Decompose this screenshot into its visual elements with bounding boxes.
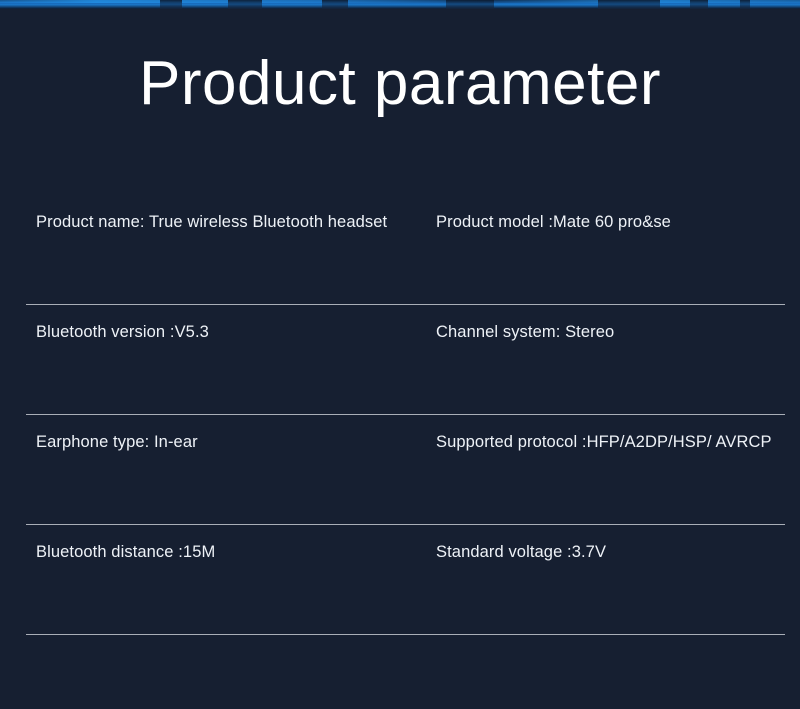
spec-row: Product name: True wireless Bluetooth he… — [0, 195, 800, 305]
spec-row: Bluetooth version :V5.3 Channel system: … — [0, 305, 800, 415]
page-title: Product parameter — [0, 50, 800, 118]
top-accent-glow — [0, 0, 800, 3]
top-accent-strip — [0, 0, 800, 9]
spec-cell-right: Supported protocol :HFP/A2DP/HSP/ AVRCP — [436, 431, 772, 453]
spec-cell-left: Bluetooth distance :15M — [36, 541, 215, 563]
top-accent-segment — [322, 0, 348, 9]
spec-cell-left: Bluetooth version :V5.3 — [36, 321, 209, 343]
top-accent-segment — [598, 0, 660, 9]
spec-row: Earphone type: In-ear Supported protocol… — [0, 415, 800, 525]
top-accent-segment — [228, 0, 262, 9]
product-parameter-page: Product parameter Product name: True wir… — [0, 0, 800, 709]
top-accent-segment — [446, 0, 494, 9]
spec-table: Product name: True wireless Bluetooth he… — [0, 195, 800, 635]
spec-cell-left: Earphone type: In-ear — [36, 431, 198, 453]
top-accent-segment — [740, 0, 750, 9]
top-accent-segment — [690, 0, 708, 9]
spec-cell-right: Channel system: Stereo — [436, 321, 614, 343]
spec-cell-left: Product name: True wireless Bluetooth he… — [36, 211, 387, 233]
top-accent-segment — [160, 0, 182, 9]
spec-cell-right: Standard voltage :3.7V — [436, 541, 606, 563]
spec-row: Bluetooth distance :15M Standard voltage… — [0, 525, 800, 635]
spec-cell-right: Product model :Mate 60 pro&se — [436, 211, 671, 233]
row-divider — [26, 634, 785, 635]
